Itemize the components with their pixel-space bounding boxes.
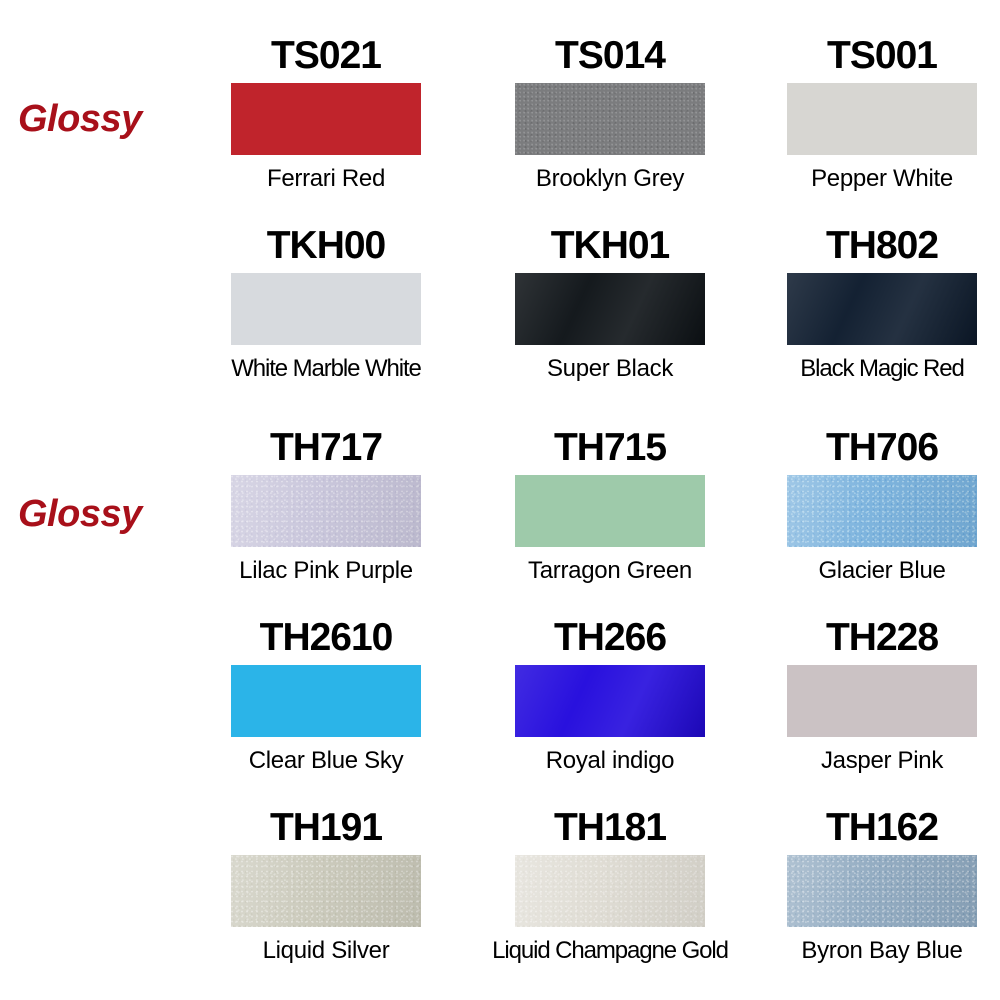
swatch-row: TH191 Liquid Silver TH181 Liquid Champag… [0,804,1000,994]
swatch-row: TH717 Lilac Pink Purple TH715 Tarragon G… [0,424,1000,614]
swatch-name: White Marble White [231,357,421,381]
swatch-color-chip[interactable] [515,273,705,345]
gloss-sheen-overlay [515,273,705,345]
swatch-cell[interactable]: TS021 Ferrari Red [208,32,444,222]
swatch-name: Royal indigo [546,749,674,773]
swatch-cell[interactable]: TH706 Glacier Blue [764,424,1000,614]
swatch-name: Liquid Silver [263,939,390,963]
swatch-color-chip[interactable] [787,83,977,155]
swatch-name: Brooklyn Grey [536,167,684,191]
swatch-cell[interactable]: TKH01 Super Black [492,222,728,412]
sheen-overlay [787,475,977,547]
gloss-sheen-overlay [787,273,977,345]
matte-grain-overlay [515,83,705,155]
swatch-code: TH715 [554,428,666,467]
swatch-cell[interactable]: TH715 Tarragon Green [492,424,728,614]
swatch-name: Jasper Pink [821,749,943,773]
swatch-code: TKH01 [551,226,670,265]
swatch-code: TH162 [826,808,938,847]
swatch-cell[interactable]: TH717 Lilac Pink Purple [208,424,444,614]
swatch-cell[interactable]: TH228 Jasper Pink [764,614,1000,804]
gloss-sheen-overlay [515,665,705,737]
sheen-overlay [231,475,421,547]
swatch-color-chip[interactable] [515,855,705,927]
swatch-code: TS001 [827,36,937,75]
swatch-cell[interactable]: TH266 Royal indigo [492,614,728,804]
swatch-code: TH228 [826,618,938,657]
swatch-code: TS014 [555,36,665,75]
swatch-name: Glacier Blue [818,559,945,583]
swatch-name: Byron Bay Blue [801,939,962,963]
swatch-cell[interactable]: TS014 Brooklyn Grey [492,32,728,222]
swatch-name: Clear Blue Sky [249,749,404,773]
metallic-grain-overlay [787,475,977,547]
swatch-code: TH181 [554,808,666,847]
swatch-code: TH2610 [260,618,393,657]
swatch-code: TH717 [270,428,382,467]
swatch-row: TKH00 White Marble White TKH01 Super Bla… [0,222,1000,412]
swatch-cell[interactable]: TH162 Byron Bay Blue [764,804,1000,994]
sheen-overlay [515,855,705,927]
metallic-grain-overlay [231,475,421,547]
swatch-code: TKH00 [267,226,386,265]
swatch-color-chip[interactable] [515,665,705,737]
swatch-color-chip[interactable] [231,273,421,345]
swatch-cell[interactable]: TH191 Liquid Silver [208,804,444,994]
sheen-overlay [787,855,977,927]
swatch-name: Black Magic Red [800,357,964,381]
swatch-code: TH266 [554,618,666,657]
metallic-grain-overlay [787,855,977,927]
swatch-row: TH2610 Clear Blue Sky TH266 Royal indigo… [0,614,1000,804]
swatch-name: Liquid Champagne Gold [492,939,728,963]
swatch-code: TH191 [270,808,382,847]
swatch-color-chip[interactable] [787,475,977,547]
swatch-color-chip[interactable] [515,475,705,547]
swatch-cell[interactable]: TH181 Liquid Champagne Gold [492,804,728,994]
swatch-color-chip[interactable] [231,83,421,155]
sheen-overlay [231,855,421,927]
swatch-color-chip[interactable] [231,475,421,547]
swatch-cell[interactable]: TH2610 Clear Blue Sky [208,614,444,804]
swatch-cell[interactable]: TS001 Pepper White [764,32,1000,222]
swatch-code: TH706 [826,428,938,467]
swatch-name: Pepper White [811,167,953,191]
swatch-color-chip[interactable] [787,665,977,737]
metallic-grain-overlay [515,855,705,927]
swatch-color-chip[interactable] [787,273,977,345]
swatch-name: Lilac Pink Purple [239,559,413,583]
swatch-code: TS021 [271,36,381,75]
swatch-color-chip[interactable] [515,83,705,155]
swatch-color-chip[interactable] [231,665,421,737]
swatch-code: TH802 [826,226,938,265]
swatch-name: Super Black [547,357,673,381]
swatch-cell[interactable]: TKH00 White Marble White [208,222,444,412]
swatch-color-chip[interactable] [231,855,421,927]
swatch-cell[interactable]: TH802 Black Magic Red [764,222,1000,412]
swatch-name: Tarragon Green [528,559,692,583]
swatch-chart: Glossy Glossy TS021 Ferrari Red TS014 Br… [0,0,1000,1000]
metallic-grain-overlay [231,855,421,927]
swatch-row: TS021 Ferrari Red TS014 Brooklyn Grey TS… [0,32,1000,222]
swatch-color-chip[interactable] [787,855,977,927]
swatch-name: Ferrari Red [267,167,385,191]
